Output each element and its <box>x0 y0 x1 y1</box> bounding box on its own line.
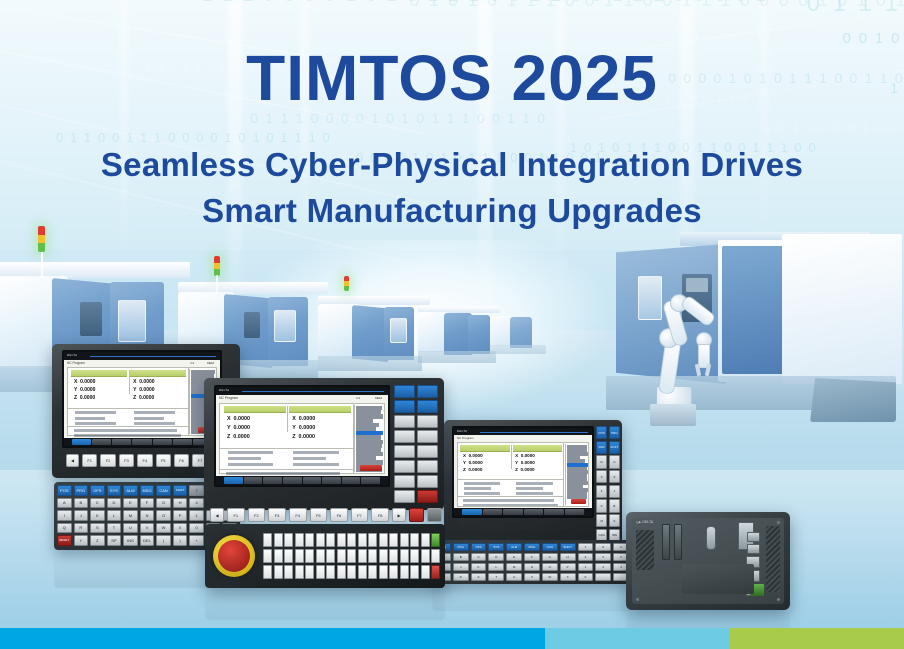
fkey-prev[interactable]: ◀ <box>210 508 224 522</box>
expansion-slot-cn1 <box>662 524 670 560</box>
status-block <box>292 451 347 466</box>
operator-key[interactable] <box>400 533 409 547</box>
key-can[interactable]: CAN <box>156 485 171 496</box>
key-4[interactable]: 4 <box>578 553 594 561</box>
key-x[interactable]: X <box>173 523 188 534</box>
key--[interactable]: + <box>189 535 204 546</box>
screen-titlebar: DELTA <box>216 387 388 395</box>
operator-key[interactable] <box>347 533 356 547</box>
keypad-key-g[interactable]: G <box>609 455 620 468</box>
key-u[interactable]: U <box>506 573 522 581</box>
program-line <box>356 414 383 418</box>
axis-x-relative: X 0.0000 <box>133 379 154 385</box>
emergency-indicator[interactable] <box>360 465 382 472</box>
operator-key[interactable] <box>263 549 272 563</box>
axis-x-relative: X 0.0000 <box>515 453 535 458</box>
operator-key[interactable] <box>431 533 440 547</box>
operator-key[interactable] <box>305 533 314 547</box>
key-ofs[interactable]: OFS <box>90 485 105 496</box>
softkey-offset[interactable] <box>263 477 282 483</box>
operator-key[interactable] <box>379 533 388 547</box>
softkey-monitor[interactable] <box>342 477 361 483</box>
key-b[interactable]: B <box>453 553 469 561</box>
operator-key[interactable] <box>379 565 388 579</box>
screen-mode-right: MEM <box>375 396 382 400</box>
key-5[interactable]: 5 <box>595 553 611 561</box>
operator-key[interactable] <box>326 565 335 579</box>
softkey-diagnosis[interactable] <box>153 439 172 445</box>
titlebar-rule <box>242 391 384 392</box>
operator-key-grid[interactable] <box>263 533 440 579</box>
keypad-key[interactable] <box>417 460 438 473</box>
operator-key[interactable] <box>400 549 409 563</box>
status-line <box>75 417 105 420</box>
operator-key[interactable] <box>389 549 398 563</box>
subtitle-line-1: Seamless Cyber-Physical Integration Driv… <box>0 146 904 184</box>
key-k[interactable]: K <box>471 563 487 571</box>
softkey-program[interactable] <box>92 439 111 445</box>
delta-logo-icon: DELTA <box>67 353 77 357</box>
ventilation-grille <box>636 530 654 570</box>
keypad-key-j[interactable]: J <box>609 485 620 498</box>
fkey-f2[interactable]: F2 <box>248 508 266 522</box>
axis-x-machine: X 0.0000 <box>227 416 250 422</box>
keyboard-row: QRSTUVWX0.- <box>435 573 629 581</box>
softkey-diagnosis[interactable] <box>544 509 564 515</box>
key--[interactable]: ( <box>156 535 171 546</box>
key-d[interactable]: D <box>488 553 504 561</box>
keypad-key-b[interactable]: B <box>609 499 620 512</box>
fkey-f6[interactable]: F6 <box>174 454 189 467</box>
fkey-alarm[interactable] <box>409 508 424 522</box>
key-q[interactable]: Q <box>57 523 72 534</box>
softkey-program[interactable] <box>244 477 263 483</box>
operator-key[interactable] <box>274 549 283 563</box>
program-list[interactable] <box>565 444 589 505</box>
key-sp[interactable]: SP <box>107 535 122 546</box>
bar-segment-blue <box>0 628 545 649</box>
operator-key[interactable] <box>326 549 335 563</box>
key-v[interactable]: V <box>524 573 540 581</box>
softkey-alarm[interactable] <box>322 477 341 483</box>
operator-key[interactable] <box>263 533 272 547</box>
binary-digit-column: 0 1 0 0 0 0 1 1 1 0 0 1 1 0 0 1 1 1 0 1 <box>760 120 904 135</box>
operator-key[interactable] <box>389 565 398 579</box>
key-x[interactable]: X <box>560 573 576 581</box>
bottom-color-bar <box>0 628 904 649</box>
key-ins[interactable]: INS <box>123 535 138 546</box>
function-key-row-center[interactable]: ◀ F1 F2 F3 F4 F5 F6 F7 F8 ▶ <box>210 508 442 522</box>
key-shift[interactable]: SHIFT <box>173 485 188 496</box>
key-1[interactable]: 1 <box>578 563 594 571</box>
softkey-alarm[interactable] <box>565 509 585 515</box>
fkey-f7[interactable]: F7 <box>351 508 369 522</box>
status-line <box>134 417 164 420</box>
controller-back-panel[interactable]: ▲ DELTA <box>626 512 790 610</box>
screen-mode-label: NC Program <box>219 396 238 400</box>
axis-x-machine: X 0.0000 <box>74 379 95 385</box>
bar-segment-green <box>730 628 904 649</box>
operator-key[interactable] <box>284 565 293 579</box>
expansion-slot-cn2 <box>674 524 682 560</box>
key-7[interactable]: 7 <box>578 543 594 551</box>
softkey-bar[interactable] <box>454 508 592 516</box>
softkey-setting[interactable] <box>132 439 151 445</box>
operator-key[interactable] <box>295 565 304 579</box>
softkey-bar[interactable] <box>216 476 388 485</box>
fkey-aux[interactable] <box>427 508 442 522</box>
fkey-f3[interactable]: F3 <box>119 454 134 467</box>
fkey-prev[interactable]: ◀ <box>66 454 79 467</box>
key-0[interactable]: 0 <box>189 523 204 534</box>
key-w[interactable]: W <box>156 523 171 534</box>
operator-key[interactable] <box>316 565 325 579</box>
softkey-parameter[interactable] <box>361 477 380 483</box>
operator-key[interactable] <box>274 565 283 579</box>
softkey-position[interactable] <box>462 509 482 515</box>
keypad-key-par[interactable]: PAR <box>596 441 607 454</box>
key-prg[interactable]: PRG <box>74 485 89 496</box>
key-c[interactable]: C <box>471 553 487 561</box>
softkey-position[interactable] <box>72 439 91 445</box>
screen-mode-label: NC Program <box>457 436 474 440</box>
key-msg[interactable]: MSG <box>140 485 155 496</box>
softkey-alarm[interactable] <box>173 439 192 445</box>
program-line <box>567 481 589 485</box>
key-r[interactable]: R <box>74 523 89 534</box>
operator-key[interactable] <box>337 533 346 547</box>
binary-digit-column: 1 1 0 0 1 1 0 0 1 1 1 0 1 0 1 0 0 0 0 1 … <box>862 0 904 5</box>
softkey-prev-arrow[interactable] <box>218 477 223 483</box>
key-o[interactable]: O <box>542 563 558 571</box>
status-line <box>464 482 500 485</box>
key-g[interactable]: G <box>156 498 171 509</box>
softkey-setting[interactable] <box>283 477 302 483</box>
function-key-row[interactable]: ◀ F1 F2 F3 F4 F5 F6 F7 F8 <box>66 454 226 467</box>
key-1[interactable]: 1 <box>189 510 204 521</box>
operator-key[interactable] <box>368 533 377 547</box>
operator-key[interactable] <box>358 549 367 563</box>
key-del[interactable]: DEL <box>140 535 155 546</box>
operator-key[interactable] <box>263 565 272 579</box>
column-divider <box>511 445 512 469</box>
screen-titlebar: DELTA <box>454 428 592 435</box>
fkey-f4[interactable]: F4 <box>137 454 152 467</box>
keypad-key[interactable] <box>394 415 415 428</box>
axis-y-machine: Y 0.0000 <box>74 387 95 393</box>
key--[interactable]: . <box>595 573 611 581</box>
key-n[interactable]: N <box>524 563 540 571</box>
fkey-f1[interactable]: F1 <box>227 508 245 522</box>
operator-key[interactable] <box>316 549 325 563</box>
side-keypad-right[interactable]: POSPRGPARSOFTDGXZFJPBMSCANINS <box>596 426 620 542</box>
key-l[interactable]: L <box>107 510 122 521</box>
axis-z-machine: Z 0.0000 <box>463 467 482 472</box>
key-t[interactable]: T <box>488 573 504 581</box>
key-can[interactable]: CAN <box>542 543 558 551</box>
binary-digit-column: 0 1 1 1 0 1 0 1 0 0 0 0 1 1 1 0 0 1 1 0 <box>52 130 333 145</box>
key-u[interactable]: U <box>123 523 138 534</box>
status-line <box>293 457 326 460</box>
softkey-next-arrow[interactable] <box>585 509 590 515</box>
key-alm[interactable]: ALM <box>123 485 138 496</box>
key-2[interactable]: 2 <box>595 563 611 571</box>
key-s[interactable]: S <box>90 523 105 534</box>
key-m[interactable]: M <box>123 510 138 521</box>
alarm-reset-button[interactable] <box>571 499 586 505</box>
keypad-key[interactable] <box>417 475 438 488</box>
key-ofs[interactable]: OFS <box>471 543 487 551</box>
axis-y-machine: Y 0.0000 <box>227 425 250 431</box>
key-p[interactable]: P <box>560 563 576 571</box>
program-list[interactable] <box>354 405 383 472</box>
keypad-key[interactable] <box>417 430 438 443</box>
operator-key[interactable] <box>389 533 398 547</box>
axis-z-relative: Z 0.0000 <box>515 467 534 472</box>
key-reset[interactable]: RESET <box>57 535 72 546</box>
softkey-offset[interactable] <box>503 509 523 515</box>
key-v[interactable]: V <box>140 523 155 534</box>
key-sys[interactable]: SYS <box>107 485 122 496</box>
keypad-key[interactable] <box>417 385 438 398</box>
keypad-key-s[interactable]: S <box>609 514 620 527</box>
key-w[interactable]: W <box>542 573 558 581</box>
key-p[interactable]: P <box>173 510 188 521</box>
key-pos[interactable]: POS <box>57 485 72 496</box>
back-panel-recess <box>682 564 754 594</box>
keypad-key[interactable] <box>394 385 415 398</box>
keypad-key[interactable] <box>394 430 415 443</box>
key-k[interactable]: K <box>90 510 105 521</box>
key-sys[interactable]: SYS <box>488 543 504 551</box>
softkey-position[interactable] <box>224 477 243 483</box>
operator-key[interactable] <box>337 565 346 579</box>
screen-status-right: F4 <box>356 396 360 400</box>
operator-key[interactable] <box>347 565 356 579</box>
delta-logo-icon: DELTA <box>219 388 229 392</box>
key-i[interactable]: I <box>57 510 72 521</box>
softkey-prev-arrow[interactable] <box>456 509 461 515</box>
key-prg[interactable]: PRG <box>453 543 469 551</box>
screen-content: X 0.0000 Y 0.0000 Z 0.0000 X 0.0000 Y 0.… <box>219 403 384 474</box>
key-t[interactable]: T <box>107 523 122 534</box>
modal-code-line <box>463 499 554 502</box>
fkey-f1[interactable]: F1 <box>82 454 97 467</box>
operator-key[interactable] <box>337 549 346 563</box>
keypad-key-p[interactable]: P <box>596 499 607 512</box>
status-line <box>134 422 175 425</box>
operator-key[interactable] <box>358 565 367 579</box>
status-line <box>464 492 500 495</box>
key-0[interactable]: 0 <box>578 573 594 581</box>
panel-screw <box>777 521 780 524</box>
bar-segment-light-blue <box>545 628 729 649</box>
usb-port <box>747 532 760 542</box>
key-s[interactable]: S <box>471 573 487 581</box>
axis-x-machine: X 0.0000 <box>463 453 483 458</box>
operator-key[interactable] <box>326 533 335 547</box>
key-g[interactable]: G <box>542 553 558 561</box>
softkey-prev-arrow[interactable] <box>66 439 71 445</box>
side-keypad-center[interactable] <box>394 385 438 503</box>
key-f[interactable]: F <box>140 498 155 509</box>
cnc-keyboard-right[interactable]: POSPRGOFSSYSALMMSGCANSHIFT789ABCDEFGH456… <box>432 540 632 584</box>
coord-header-machine <box>224 406 286 413</box>
operator-key[interactable] <box>295 549 304 563</box>
keypad-key-x[interactable]: X <box>596 470 607 483</box>
operator-key[interactable] <box>358 533 367 547</box>
status-line <box>293 451 338 454</box>
key-8[interactable]: 8 <box>595 543 611 551</box>
key-a[interactable]: A <box>57 498 72 509</box>
section-divider <box>68 426 188 427</box>
keypad-key[interactable] <box>394 490 415 503</box>
status-line <box>516 492 552 495</box>
operator-key[interactable] <box>284 549 293 563</box>
status-block <box>463 482 507 495</box>
operator-key[interactable] <box>421 533 430 547</box>
operator-panel-center[interactable] <box>205 524 445 588</box>
status-line <box>134 411 175 414</box>
controller-screen: DELTA NC Program F4 MEM X 0.0000 Y 0.000… <box>64 352 220 446</box>
softkey-offset[interactable] <box>112 439 131 445</box>
section-divider <box>220 469 352 470</box>
operator-key[interactable] <box>368 549 377 563</box>
key-b[interactable]: B <box>74 498 89 509</box>
key-y[interactable]: Y <box>74 535 89 546</box>
key-d[interactable]: D <box>107 498 122 509</box>
status-line <box>75 411 116 414</box>
operator-key[interactable] <box>295 533 304 547</box>
fkey-f6[interactable]: F6 <box>330 508 348 522</box>
keypad-key[interactable] <box>417 400 438 413</box>
keypad-key[interactable] <box>394 400 415 413</box>
keypad-key[interactable] <box>417 445 438 458</box>
titlebar-rule <box>480 432 588 433</box>
operator-key[interactable] <box>410 565 419 579</box>
fkey-f2[interactable]: F2 <box>100 454 115 467</box>
axis-y-relative: Y 0.0000 <box>292 425 315 431</box>
key-o[interactable]: O <box>156 510 171 521</box>
titlebar-rule <box>90 356 216 357</box>
key-c[interactable]: C <box>90 498 105 509</box>
operator-key[interactable] <box>410 549 419 563</box>
fkey-f4[interactable]: F4 <box>289 508 307 522</box>
operator-key[interactable] <box>347 549 356 563</box>
modal-code-line <box>74 434 182 437</box>
key-msg[interactable]: MSG <box>524 543 540 551</box>
axis-z-machine: Z 0.0000 <box>74 395 95 401</box>
delta-logo-icon: ▲ DELTA <box>638 520 653 524</box>
keypad-key-soft[interactable]: SOFT <box>609 441 620 454</box>
program-line <box>356 460 383 464</box>
fkey-f5[interactable]: F5 <box>156 454 171 467</box>
key-j[interactable]: J <box>453 563 469 571</box>
controller-screen: DELTA NC Program X 0.0000 Y 0.0000 Z 0.0… <box>454 428 592 516</box>
section-divider <box>68 408 188 409</box>
coord-header-relative <box>289 406 351 413</box>
operator-key[interactable] <box>400 565 409 579</box>
keypad-key[interactable] <box>394 475 415 488</box>
status-block <box>227 451 282 466</box>
key--[interactable]: ) <box>173 535 188 546</box>
key-l[interactable]: L <box>488 563 504 571</box>
column-divider <box>287 406 288 432</box>
key-shift[interactable]: SHIFT <box>560 543 576 551</box>
emergency-stop-button[interactable] <box>218 540 250 572</box>
keyboard-row: POSPRGOFSSYSALMMSGCANSHIFT789 <box>435 543 629 551</box>
cnc-controller-center[interactable]: DELTA NC Program F4 MEM X 0.0000 Y 0.000… <box>204 378 444 510</box>
key-h[interactable]: H <box>560 553 576 561</box>
fkey-f3[interactable]: F3 <box>268 508 286 522</box>
fkey-next[interactable]: ▶ <box>392 508 406 522</box>
operator-key[interactable] <box>274 533 283 547</box>
operator-key[interactable] <box>305 549 314 563</box>
key-4[interactable]: 4 <box>189 498 204 509</box>
screen-mode-label: NC Program <box>67 361 85 365</box>
softkey-next-arrow[interactable] <box>381 477 386 483</box>
keypad-key-m[interactable]: M <box>596 514 607 527</box>
softkey-diagnosis[interactable] <box>303 477 322 483</box>
operator-key[interactable] <box>305 565 314 579</box>
keypad-key-f[interactable]: F <box>596 485 607 498</box>
softkey-program[interactable] <box>483 509 503 515</box>
axis-y-relative: Y 0.0000 <box>133 387 154 393</box>
key-e[interactable]: E <box>123 498 138 509</box>
keypad-key[interactable] <box>417 415 438 428</box>
keypad-key[interactable] <box>394 460 415 473</box>
fkey-f8[interactable]: F8 <box>371 508 389 522</box>
softkey-bar[interactable] <box>64 438 220 446</box>
operator-key[interactable] <box>421 549 430 563</box>
keypad-key[interactable] <box>394 445 415 458</box>
keypad-key-prg[interactable]: PRG <box>609 426 620 439</box>
key-f[interactable]: F <box>524 553 540 561</box>
program-line <box>356 435 381 439</box>
softkey-setting[interactable] <box>524 509 544 515</box>
axis-y-relative: Y 0.0000 <box>515 460 535 465</box>
keypad-key-d[interactable]: D <box>596 455 607 468</box>
keyboard-row: ABCDEFGH456 <box>435 553 629 561</box>
ventilation-grille <box>766 526 780 592</box>
status-line <box>516 487 543 490</box>
controller-screen: DELTA NC Program F4 MEM X 0.0000 Y 0.000… <box>216 387 388 485</box>
operator-key[interactable] <box>431 565 440 579</box>
keypad-key-pos[interactable]: POS <box>596 426 607 439</box>
operator-key[interactable] <box>284 533 293 547</box>
key-n[interactable]: N <box>140 510 155 521</box>
keypad-key-z[interactable]: Z <box>609 470 620 483</box>
key-r[interactable]: R <box>453 573 469 581</box>
cnc-controller-right[interactable]: DELTA NC Program X 0.0000 Y 0.0000 Z 0.0… <box>444 420 622 546</box>
key-7[interactable]: 7 <box>189 485 204 496</box>
operator-key[interactable] <box>421 565 430 579</box>
keypad-key[interactable] <box>417 490 438 503</box>
key-j[interactable]: J <box>74 510 89 521</box>
operator-key[interactable] <box>316 533 325 547</box>
key-e[interactable]: E <box>506 553 522 561</box>
operator-key[interactable] <box>431 549 440 563</box>
operator-key[interactable] <box>410 533 419 547</box>
fkey-f5[interactable]: F5 <box>310 508 328 522</box>
operator-key[interactable] <box>368 565 377 579</box>
key-z[interactable]: Z <box>90 535 105 546</box>
operator-key[interactable] <box>379 549 388 563</box>
key-h[interactable]: H <box>173 498 188 509</box>
axis-z-relative: Z 0.0000 <box>292 434 315 440</box>
key-alm[interactable]: ALM <box>506 543 522 551</box>
key-m[interactable]: M <box>506 563 522 571</box>
